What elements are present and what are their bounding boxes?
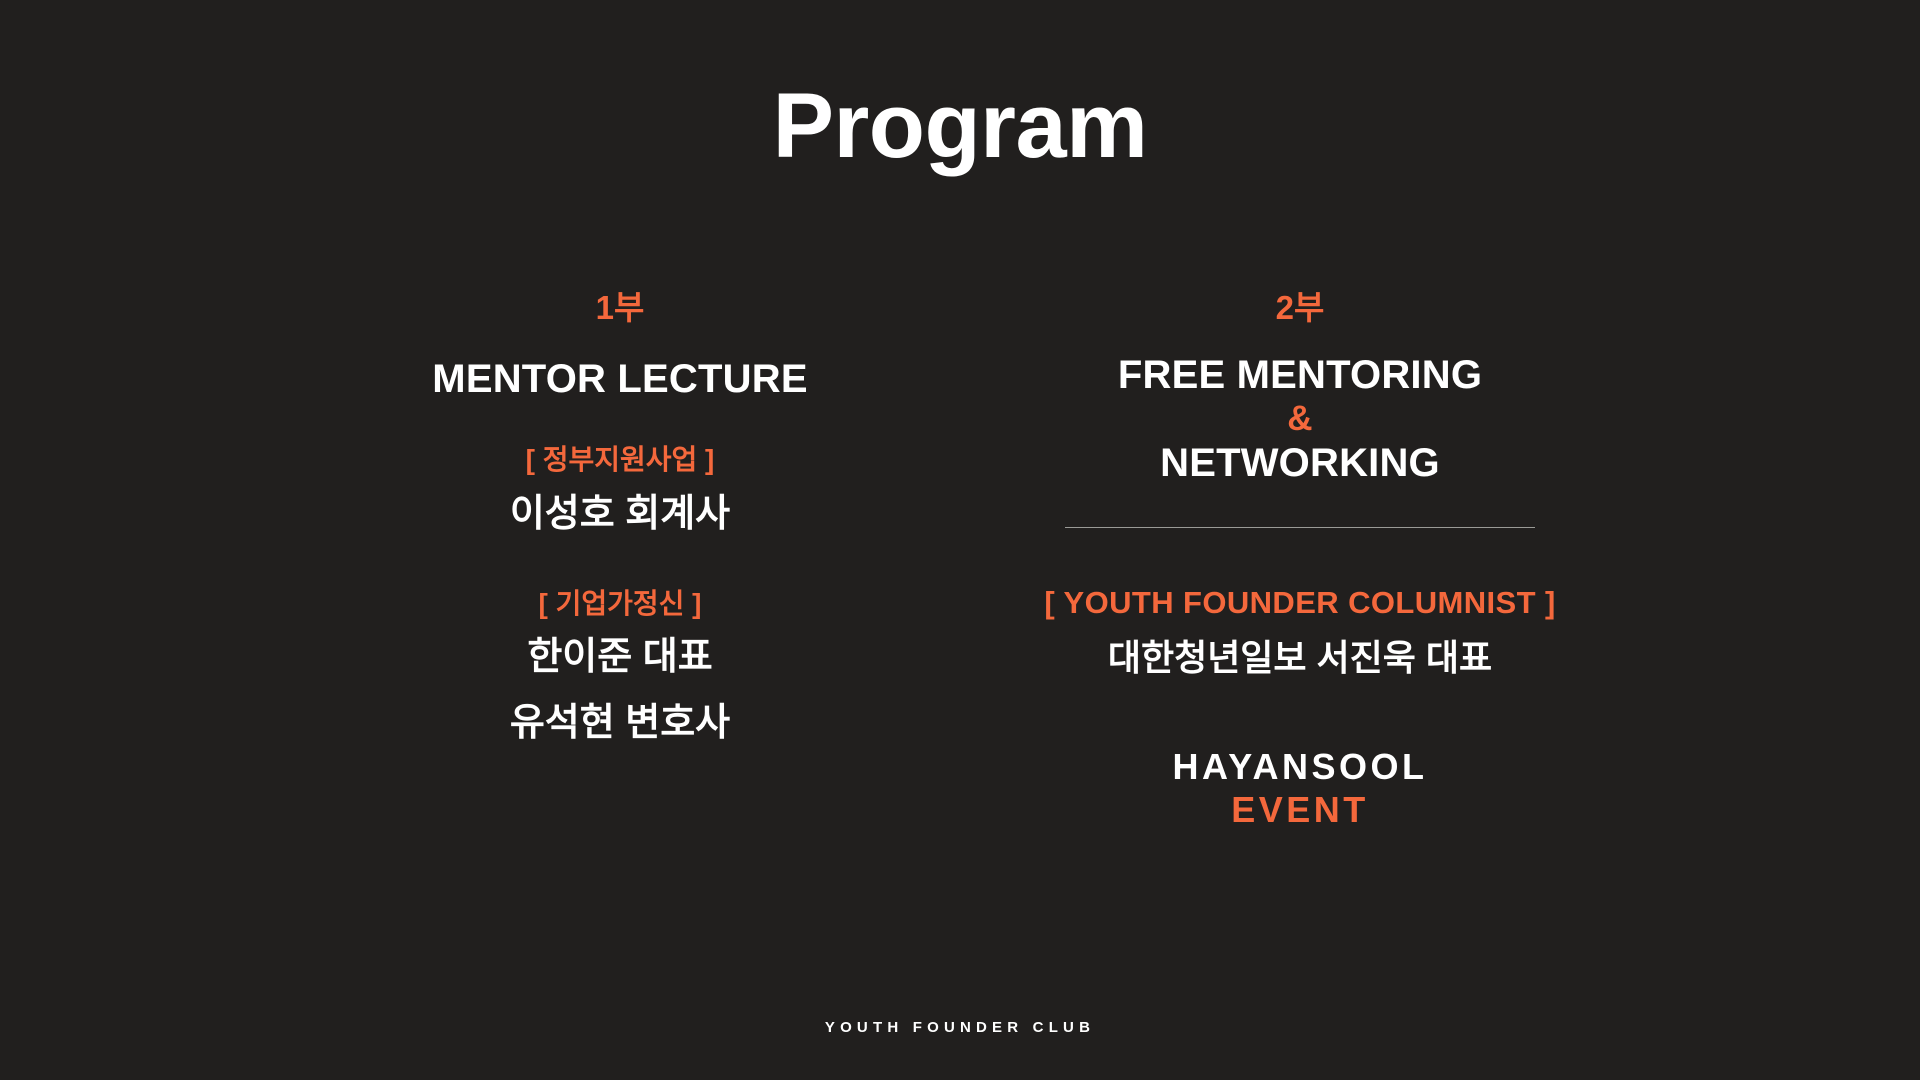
part-suffix-1: 부 [614,289,644,326]
bracket-tag-government-support: [ 정부지원사업 ] [300,443,940,477]
event-title-hayansool: HAYANSOOL [980,746,1620,788]
heading-ampersand: & [980,399,1620,439]
part-label-2: 2부 [980,290,1620,326]
program-column-part1: 1부 MENTOR LECTURE [ 정부지원사업 ] 이성호 회계사 [ 기… [300,290,940,747]
program-slide: Program 1부 MENTOR LECTURE [ 정부지원사업 ] 이성호… [0,0,1920,1080]
bracket-tag-entrepreneurship: [ 기업가정신 ] [300,587,940,621]
section-heading-mentor-lecture: MENTOR LECTURE [300,356,940,403]
speaker-name-yu-seokhyeon: 유석현 변호사 [300,700,940,748]
part-suffix-2: 부 [1294,289,1324,326]
section-heading-free-mentoring: FREE MENTORING & NETWORKING [980,352,1620,487]
bracket-tag-youth-founder-columnist: [ YOUTH FOUNDER COLUMNIST ] [980,584,1620,621]
footer-brand: YOUTH FOUNDER CLUB [0,1019,1920,1036]
program-column-part2: 2부 FREE MENTORING & NETWORKING [ YOUTH F… [980,290,1620,831]
part-number-2: 2 [1276,289,1294,326]
speaker-name-han-ijun: 한이준 대표 [300,634,940,682]
heading-line-networking: NETWORKING [1160,441,1440,485]
speaker-name-lee-seongho: 이성호 회계사 [300,491,940,539]
page-title: Program [0,78,1920,175]
program-columns: 1부 MENTOR LECTURE [ 정부지원사업 ] 이성호 회계사 [ 기… [0,290,1920,831]
event-block-hayansool: HAYANSOOL EVENT [980,746,1620,831]
heading-line-free-mentoring: FREE MENTORING [1118,353,1482,397]
part-number-1: 1 [596,289,614,326]
part-label-1: 1부 [300,290,940,326]
event-label-event: EVENT [980,789,1620,831]
speaker-name-seo-jinuk: 대한청년일보 서진욱 대표 [980,635,1620,680]
